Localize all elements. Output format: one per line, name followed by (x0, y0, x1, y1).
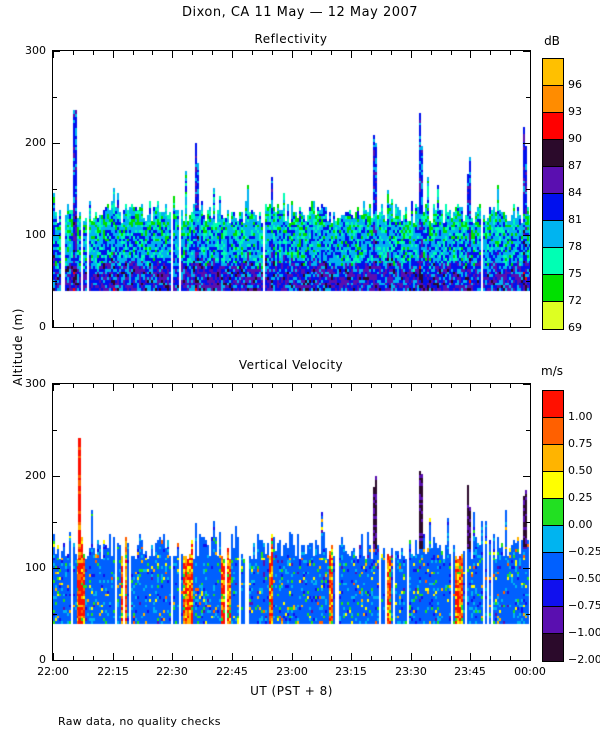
colorbar-tick-label: 72 (568, 294, 600, 307)
colorbar-tick-label: −1.00 (568, 626, 600, 639)
x-minor-tick (212, 51, 213, 55)
x-major-tick (351, 653, 352, 660)
colorbar-tick-label: 0.50 (568, 464, 600, 477)
x-major-tick (530, 653, 531, 660)
x-minor-tick (272, 656, 273, 660)
x-minor-tick (331, 51, 332, 55)
colorbar-tick-label: −0.75 (568, 599, 600, 612)
x-minor-tick (133, 384, 134, 388)
y-tick-label: 100 (6, 228, 46, 241)
y-tick-label: 200 (6, 469, 46, 482)
x-minor-tick (311, 323, 312, 327)
x-minor-tick (252, 51, 253, 55)
colorbar-segment (543, 526, 563, 553)
x-major-tick (172, 384, 173, 391)
x-major-tick (113, 384, 114, 391)
x-minor-tick (431, 656, 432, 660)
colorbar-db (542, 58, 564, 330)
x-tick-label: 23:15 (321, 665, 381, 678)
y-tick-label: 200 (6, 136, 46, 149)
colorbar-tick-label: 90 (568, 132, 600, 145)
x-major-tick (172, 51, 173, 58)
x-minor-tick (431, 384, 432, 388)
x-minor-tick (431, 51, 432, 55)
colorbar-tick-label: 0.25 (568, 491, 600, 504)
x-minor-tick (311, 51, 312, 55)
y-tick-label: 100 (6, 561, 46, 574)
y-major-tick (53, 476, 60, 477)
x-minor-tick (93, 656, 94, 660)
x-minor-tick (73, 323, 74, 327)
x-minor-tick (93, 323, 94, 327)
y-major-tick (523, 327, 530, 328)
x-major-tick (292, 384, 293, 391)
x-minor-tick (133, 656, 134, 660)
x-minor-tick (451, 384, 452, 388)
colorbar-tick-label: −0.50 (568, 572, 600, 585)
y-major-tick (523, 384, 530, 385)
x-minor-tick (391, 51, 392, 55)
x-major-tick (470, 653, 471, 660)
y-major-tick (53, 143, 60, 144)
x-major-tick (232, 320, 233, 327)
x-minor-tick (371, 323, 372, 327)
colorbar-ms-title: m/s (522, 364, 582, 378)
x-tick-label: 00:00 (500, 665, 560, 678)
x-major-tick (232, 384, 233, 391)
x-minor-tick (510, 323, 511, 327)
colorbar-segment (543, 59, 563, 86)
x-minor-tick (192, 384, 193, 388)
colorbar-segment (543, 275, 563, 302)
colorbar-tick-label: 84 (568, 186, 600, 199)
colorbar-segment (543, 302, 563, 329)
y-tick-label: 300 (6, 44, 46, 57)
y-major-tick (53, 51, 60, 52)
x-minor-tick (152, 384, 153, 388)
y-minor-tick (53, 189, 57, 190)
x-minor-tick (252, 384, 253, 388)
x-tick-label: 22:00 (23, 665, 83, 678)
x-major-tick (232, 653, 233, 660)
colorbar-segment (543, 113, 563, 140)
colorbar-tick-label: −2.00 (568, 653, 600, 666)
y-axis-label: Altitude (m) (11, 287, 25, 407)
x-major-tick (351, 384, 352, 391)
y-major-tick (53, 568, 60, 569)
y-minor-tick (53, 430, 57, 431)
panel-title-vertical-velocity: Vertical Velocity (52, 358, 530, 372)
y-major-tick (53, 327, 60, 328)
x-tick-label: 22:45 (202, 665, 262, 678)
y-major-tick (53, 384, 60, 385)
y-minor-tick (526, 281, 530, 282)
x-minor-tick (510, 51, 511, 55)
x-minor-tick (331, 323, 332, 327)
x-minor-tick (451, 51, 452, 55)
colorbar-segment (543, 580, 563, 607)
x-minor-tick (212, 656, 213, 660)
colorbar-segment (543, 445, 563, 472)
x-major-tick (530, 51, 531, 58)
x-minor-tick (371, 656, 372, 660)
x-minor-tick (272, 384, 273, 388)
y-major-tick (523, 235, 530, 236)
reflectivity-heatmap-canvas (53, 51, 530, 327)
footnote-text: Raw data, no quality checks (58, 715, 221, 728)
x-major-tick (113, 653, 114, 660)
x-minor-tick (73, 384, 74, 388)
x-major-tick (172, 320, 173, 327)
x-minor-tick (311, 384, 312, 388)
y-major-tick (523, 476, 530, 477)
x-minor-tick (451, 656, 452, 660)
x-major-tick (292, 653, 293, 660)
x-minor-tick (490, 323, 491, 327)
x-minor-tick (490, 384, 491, 388)
x-minor-tick (192, 51, 193, 55)
x-minor-tick (371, 51, 372, 55)
y-major-tick (53, 660, 60, 661)
colorbar-segment (543, 167, 563, 194)
y-minor-tick (526, 97, 530, 98)
colorbar-tick-label: 96 (568, 78, 600, 91)
colorbar-tick-label: 75 (568, 267, 600, 280)
y-major-tick (523, 51, 530, 52)
x-tick-label: 23:45 (440, 665, 500, 678)
x-tick-label: 23:30 (381, 665, 441, 678)
x-minor-tick (73, 51, 74, 55)
x-major-tick (53, 51, 54, 58)
x-tick-label: 22:30 (142, 665, 202, 678)
colorbar-segment (543, 248, 563, 275)
x-minor-tick (192, 323, 193, 327)
x-minor-tick (391, 656, 392, 660)
colorbar-segment (543, 418, 563, 445)
x-minor-tick (331, 656, 332, 660)
x-tick-label: 23:00 (262, 665, 322, 678)
x-minor-tick (331, 384, 332, 388)
x-minor-tick (152, 656, 153, 660)
x-minor-tick (93, 51, 94, 55)
x-major-tick (232, 51, 233, 58)
x-minor-tick (212, 384, 213, 388)
y-minor-tick (53, 281, 57, 282)
colorbar-segment (543, 86, 563, 113)
x-minor-tick (311, 656, 312, 660)
colorbar-tick-label: 69 (568, 321, 600, 334)
x-major-tick (411, 51, 412, 58)
colorbar-segment (543, 221, 563, 248)
x-minor-tick (152, 51, 153, 55)
colorbar-segment (543, 194, 563, 221)
x-minor-tick (431, 323, 432, 327)
colorbar-segment (543, 140, 563, 167)
x-major-tick (470, 320, 471, 327)
x-minor-tick (510, 656, 511, 660)
colorbar-tick-label: 1.00 (568, 410, 600, 423)
x-minor-tick (272, 51, 273, 55)
x-minor-tick (451, 323, 452, 327)
x-major-tick (530, 320, 531, 327)
y-minor-tick (526, 430, 530, 431)
y-minor-tick (53, 522, 57, 523)
reflectivity-plot-area (52, 50, 531, 328)
x-major-tick (113, 320, 114, 327)
colorbar-segment (543, 607, 563, 634)
x-tick-label: 22:15 (83, 665, 143, 678)
figure-title: Dixon, CA 11 May — 12 May 2007 (0, 5, 600, 20)
x-major-tick (53, 384, 54, 391)
y-minor-tick (53, 614, 57, 615)
y-major-tick (523, 143, 530, 144)
colorbar-segment (543, 472, 563, 499)
colorbar-segment (543, 499, 563, 526)
colorbar-tick-label: 81 (568, 213, 600, 226)
y-major-tick (523, 660, 530, 661)
x-major-tick (292, 51, 293, 58)
vertical-velocity-plot-area (52, 383, 531, 661)
x-axis-label: UT (PST + 8) (52, 684, 531, 698)
x-major-tick (351, 51, 352, 58)
x-minor-tick (490, 656, 491, 660)
x-minor-tick (391, 384, 392, 388)
x-major-tick (470, 51, 471, 58)
x-minor-tick (272, 323, 273, 327)
colorbar-tick-label: 93 (568, 105, 600, 118)
x-minor-tick (73, 656, 74, 660)
x-minor-tick (192, 656, 193, 660)
x-major-tick (53, 653, 54, 660)
y-minor-tick (53, 97, 57, 98)
x-major-tick (411, 653, 412, 660)
colorbar-ms (542, 390, 564, 662)
x-minor-tick (371, 384, 372, 388)
colorbar-segment (543, 634, 563, 661)
x-minor-tick (510, 384, 511, 388)
colorbar-tick-label: −0.25 (568, 545, 600, 558)
x-major-tick (470, 384, 471, 391)
x-minor-tick (93, 384, 94, 388)
x-major-tick (351, 320, 352, 327)
colorbar-tick-label: 0.00 (568, 518, 600, 531)
y-minor-tick (526, 614, 530, 615)
x-minor-tick (490, 51, 491, 55)
y-major-tick (523, 568, 530, 569)
x-major-tick (113, 51, 114, 58)
y-minor-tick (526, 522, 530, 523)
x-major-tick (411, 384, 412, 391)
panel-title-reflectivity: Reflectivity (52, 32, 530, 46)
colorbar-db-title: dB (522, 34, 582, 48)
colorbar-tick-label: 87 (568, 159, 600, 172)
colorbar-tick-label: 78 (568, 240, 600, 253)
vertical-velocity-heatmap-canvas (53, 384, 530, 660)
y-major-tick (53, 235, 60, 236)
x-minor-tick (252, 323, 253, 327)
x-major-tick (530, 384, 531, 391)
x-minor-tick (252, 656, 253, 660)
x-major-tick (53, 320, 54, 327)
x-minor-tick (133, 51, 134, 55)
x-minor-tick (212, 323, 213, 327)
x-minor-tick (133, 323, 134, 327)
x-minor-tick (391, 323, 392, 327)
x-major-tick (172, 653, 173, 660)
x-minor-tick (152, 323, 153, 327)
colorbar-segment (543, 391, 563, 418)
x-major-tick (411, 320, 412, 327)
colorbar-tick-label: 0.75 (568, 437, 600, 450)
colorbar-segment (543, 553, 563, 580)
y-minor-tick (526, 189, 530, 190)
x-major-tick (292, 320, 293, 327)
